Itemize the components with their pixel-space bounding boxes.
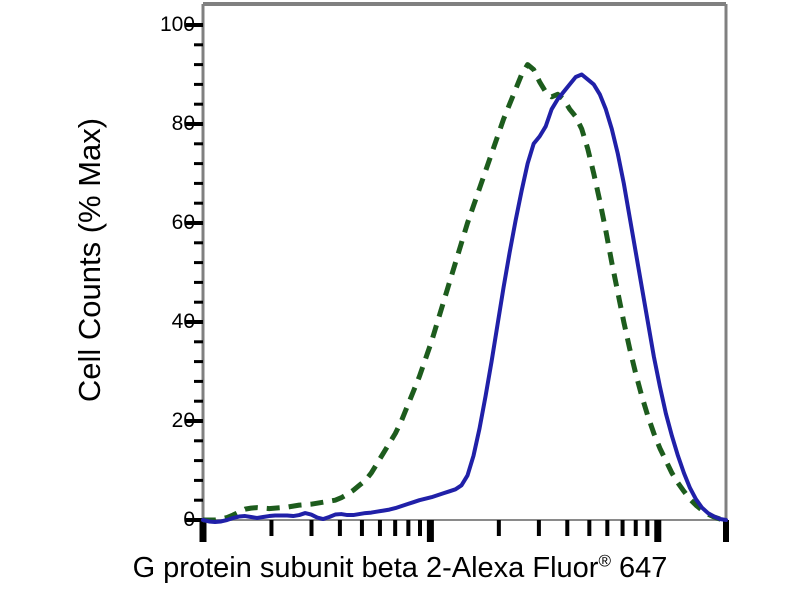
plot-canvas bbox=[0, 0, 800, 600]
registered-mark-icon: ® bbox=[598, 551, 611, 570]
data-series-2 bbox=[203, 75, 726, 522]
y-tick-marks bbox=[186, 25, 203, 520]
plot-frame bbox=[203, 4, 726, 523]
x-axis-caption-suffix: 647 bbox=[611, 552, 667, 584]
data-series-group bbox=[203, 65, 726, 522]
x-axis-caption-main: G protein subunit beta 2-Alexa Fluor bbox=[133, 552, 599, 584]
x-axis-caption: G protein subunit beta 2-Alexa Fluor® 64… bbox=[0, 552, 800, 585]
x-tick-marks bbox=[203, 520, 726, 542]
data-series-1 bbox=[203, 65, 726, 520]
flow-cytometry-figure: Cell Counts (% Max) 020406080100 G prote… bbox=[0, 0, 800, 600]
